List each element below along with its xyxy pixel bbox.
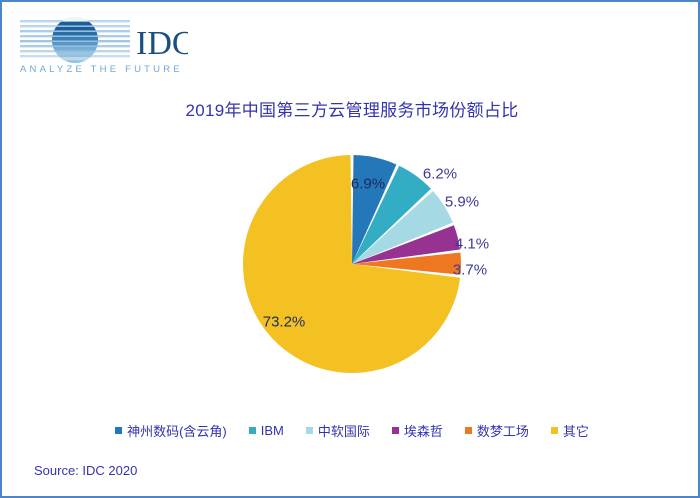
legend-swatch-icon xyxy=(115,427,122,434)
legend-item[interactable]: 埃森哲 xyxy=(392,421,443,440)
legend-swatch-icon xyxy=(465,427,472,434)
idc-wordmark: IDC xyxy=(136,25,188,62)
pie-chart: 6.9%6.2%5.9%4.1%3.7%73.2% xyxy=(2,132,700,402)
pie-slice-label: 73.2% xyxy=(263,314,306,331)
legend-item[interactable]: 数梦工场 xyxy=(465,421,529,440)
pie-chart-svg xyxy=(2,132,700,402)
legend-item[interactable]: 中软国际 xyxy=(306,421,370,440)
pie-slice-label: 3.7% xyxy=(453,262,487,279)
chart-legend: 神州数码(含云角)IBM中软国际埃森哲数梦工场其它 xyxy=(2,421,700,440)
page-title: 2019年中国第三方云管理服务市场份额占比 xyxy=(2,96,700,121)
legend-swatch-icon xyxy=(392,427,399,434)
legend-item[interactable]: 其它 xyxy=(551,421,589,440)
chart-page: IDC ANALYZE THE FUTURE 2019年中国第三方云管理服务市场… xyxy=(0,0,700,498)
source-note: Source: IDC 2020 xyxy=(34,463,137,478)
pie-slice-label: 4.1% xyxy=(455,236,489,253)
pie-slice-label: 6.9% xyxy=(351,176,385,193)
legend-swatch-icon xyxy=(551,427,558,434)
legend-item-label: IBM xyxy=(261,423,284,438)
legend-swatch-icon xyxy=(306,427,313,434)
idc-logo-svg: IDC ANALYZE THE FUTURE xyxy=(18,14,188,76)
globe-icon xyxy=(20,17,130,63)
pie-slice-label: 6.2% xyxy=(423,166,457,183)
legend-item-label: 其它 xyxy=(563,421,589,440)
idc-tagline: ANALYZE THE FUTURE xyxy=(20,64,183,75)
legend-item-label: 中软国际 xyxy=(318,421,370,440)
legend-item-label: 埃森哲 xyxy=(404,421,443,440)
pie-slice-label: 5.9% xyxy=(445,194,479,211)
legend-item-label: 神州数码(含云角) xyxy=(127,421,227,440)
idc-logo: IDC ANALYZE THE FUTURE xyxy=(18,14,188,76)
legend-swatch-icon xyxy=(249,427,256,434)
legend-item[interactable]: IBM xyxy=(249,423,284,438)
legend-item[interactable]: 神州数码(含云角) xyxy=(115,421,227,440)
legend-item-label: 数梦工场 xyxy=(477,421,529,440)
